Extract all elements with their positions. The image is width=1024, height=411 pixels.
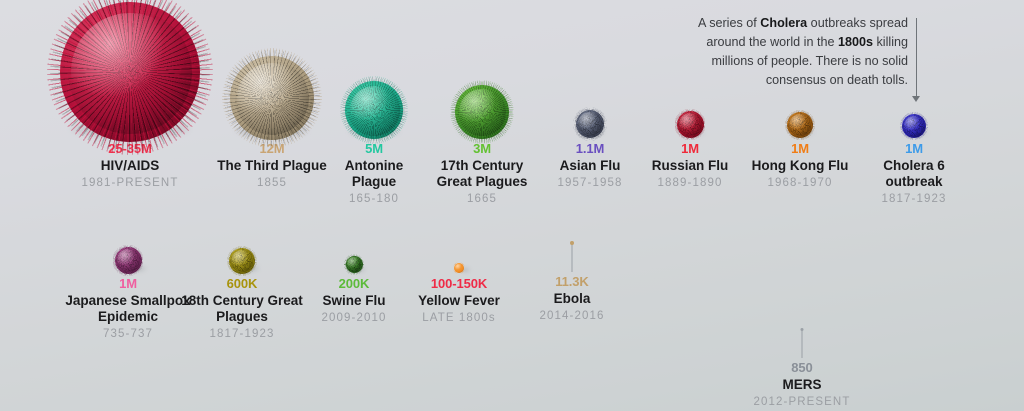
pathogen-value: 850	[744, 361, 860, 375]
pathogen-item-hong-kong-flu[interactable]: 1M Hong Kong Flu 1968-1970	[742, 88, 858, 191]
pathogen-item-mers[interactable]: 850 MERS 2012-PRESENT	[744, 324, 860, 410]
pathogen-item-yellow-fever[interactable]: 100-150K Yellow Fever LATE 1800s	[404, 244, 514, 326]
mers-leader-line	[802, 330, 803, 358]
pathogen-orb	[229, 248, 255, 274]
pathogen-name: Cholera 6 outbreak	[862, 158, 966, 190]
annotation-text: A series of	[698, 16, 760, 30]
pathogen-name: Swine Flu	[306, 293, 402, 309]
pathogen-years: 1665	[424, 192, 540, 207]
pathogen-value: 3M	[424, 142, 540, 156]
pathogen-item-18th-century-great-plagues[interactable]: 600K 18th Century Great Plagues 1817-192…	[176, 232, 308, 342]
annotation-text: around the world in the	[706, 35, 838, 49]
pathogen-years: 2009-2010	[306, 311, 402, 326]
pathogen-years: 1981-PRESENT	[48, 176, 212, 191]
pathogen-name: HIV/AIDS	[48, 158, 212, 174]
pathogen-orb	[902, 114, 926, 138]
annotation-bold-cholera: Cholera	[760, 16, 807, 30]
annotation-bold-1800s: 1800s	[838, 35, 873, 49]
annotation-text: killing	[873, 35, 908, 49]
annotation-line-2: around the world in the 1800s killing	[630, 33, 908, 52]
pathogen-value: 100-150K	[404, 277, 514, 291]
pathogen-years: 1957-1958	[544, 176, 636, 191]
annotation-line-3: millions of people. There is no solid	[630, 52, 908, 71]
pathogen-years: 1968-1970	[742, 176, 858, 191]
pathogen-orb	[787, 112, 813, 138]
pathogen-item-ebola[interactable]: 11.3K Ebola 2014-2016	[524, 238, 620, 324]
pathogen-years: 165-180	[326, 192, 422, 207]
pathogen-value: 1M	[742, 142, 858, 156]
pathogen-name: Russian Flu	[642, 158, 738, 174]
pathogen-years: 1817-1923	[862, 192, 966, 207]
pathogen-years: 1817-1923	[176, 327, 308, 342]
pathogen-years: 1889-1890	[642, 176, 738, 191]
pathogen-orb	[345, 81, 403, 139]
pathogen-orb	[576, 110, 604, 138]
pathogen-orb	[570, 241, 574, 245]
pathogen-orb	[801, 328, 804, 331]
pathogen-item-hiv-aids[interactable]: 25-35M HIV/AIDS 1981-PRESENT	[48, 0, 212, 191]
pathogen-value: 200K	[306, 277, 402, 291]
pathogen-name: Antonine Plague	[326, 158, 422, 190]
annotation-text: outbreaks spread	[807, 16, 908, 30]
pathogen-name: The Third Plague	[198, 158, 346, 174]
pathogen-item-swine-flu[interactable]: 200K Swine Flu 2009-2010	[306, 240, 402, 326]
pathogen-name: Yellow Fever	[404, 293, 514, 309]
pathogen-value: 11.3K	[524, 275, 620, 289]
pathogen-value: 1M	[642, 142, 738, 156]
pathogen-years: 2014-2016	[524, 309, 620, 324]
pathogen-value: 1.1M	[544, 142, 636, 156]
pathogen-years: 1855	[198, 176, 346, 191]
pathogen-item-antonine-plague[interactable]: 5M Antonine Plague 165-180	[326, 62, 422, 207]
pathogen-orb	[60, 2, 200, 142]
cholera-annotation: A series of Cholera outbreaks spread aro…	[630, 14, 908, 90]
pathogen-orb	[115, 247, 142, 274]
pathogen-name: 17th Century Great Plagues	[424, 158, 540, 190]
pathogen-item-asian-flu[interactable]: 1.1M Asian Flu 1957-1958	[544, 88, 636, 191]
pathogen-orb	[455, 85, 509, 139]
pathogen-item-the-third-plague[interactable]: 12M The Third Plague 1855	[198, 38, 346, 191]
pathogen-orb	[230, 56, 314, 140]
pathogen-orb	[346, 256, 363, 273]
pathogen-years: LATE 1800s	[404, 311, 514, 326]
pathogen-orb	[454, 263, 464, 273]
ebola-leader-line	[572, 244, 573, 272]
pathogen-name: MERS	[744, 377, 860, 393]
pathogen-name: Asian Flu	[544, 158, 636, 174]
pathogen-name: Ebola	[524, 291, 620, 307]
pathogen-value: 1M	[862, 142, 966, 156]
annotation-line-4: consensus on death tolls.	[630, 71, 908, 90]
pathogen-value: 5M	[326, 142, 422, 156]
pathogen-years: 2012-PRESENT	[744, 395, 860, 410]
infographic-canvas: A series of Cholera outbreaks spread aro…	[0, 0, 1024, 411]
annotation-line-1: A series of Cholera outbreaks spread	[630, 14, 908, 33]
annotation-leader-line	[916, 18, 917, 98]
pathogen-item-russian-flu[interactable]: 1M Russian Flu 1889-1890	[642, 88, 738, 191]
pathogen-value: 600K	[176, 277, 308, 291]
pathogen-name: Hong Kong Flu	[742, 158, 858, 174]
pathogen-name: 18th Century Great Plagues	[176, 293, 308, 325]
pathogen-item-17th-century-great-plagues[interactable]: 3M 17th Century Great Plagues 1665	[424, 66, 540, 207]
pathogen-item-cholera-6-outbreak[interactable]: 1M Cholera 6 outbreak 1817-1923	[862, 88, 966, 207]
pathogen-orb	[677, 111, 704, 138]
